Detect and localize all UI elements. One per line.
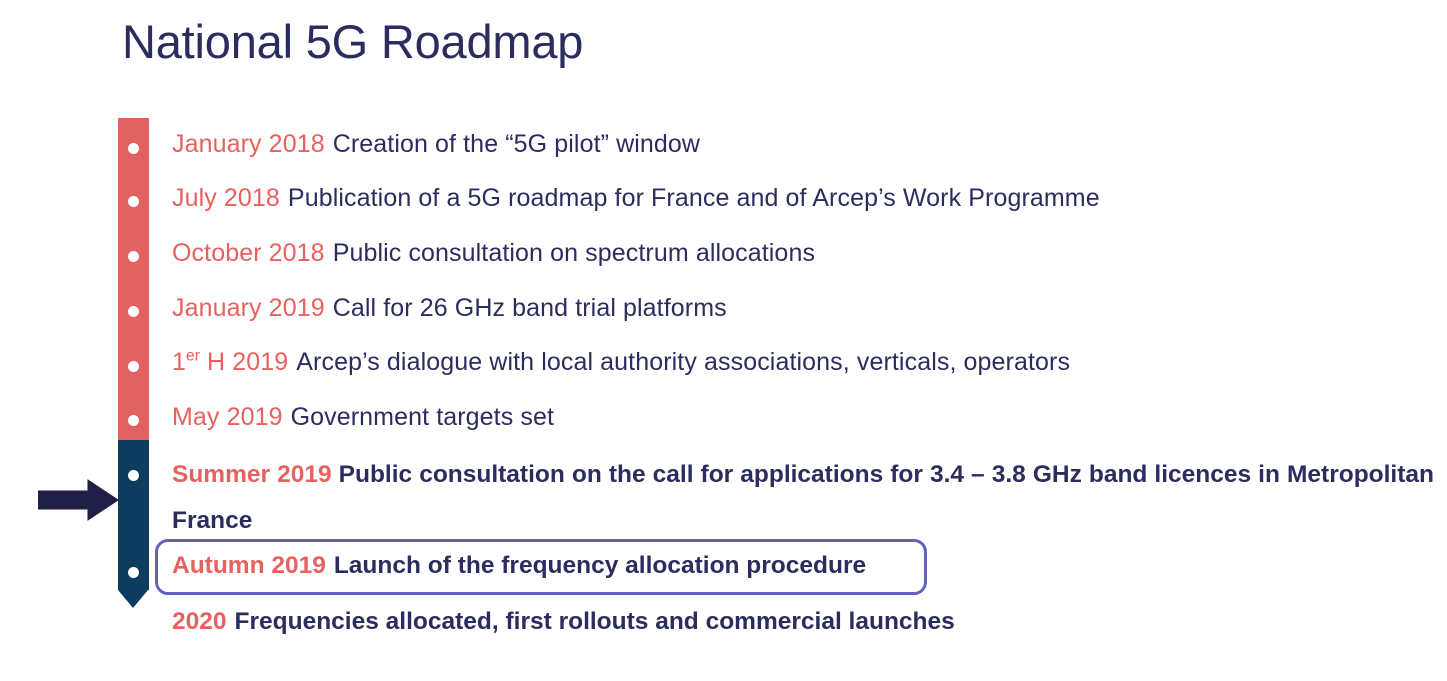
timeline-bullet <box>128 306 139 317</box>
timeline-row-date: January 2018 <box>172 130 325 158</box>
timeline-row: January 2019Call for 26 GHz band trial p… <box>172 294 727 323</box>
timeline-row-description: Frequencies allocated, first rollouts an… <box>235 608 955 635</box>
timeline-row-date: 2020 <box>172 608 227 635</box>
timeline-row: 1er H 2019Arcep’s dialogue with local au… <box>172 348 1070 377</box>
timeline-row-description: Government targets set <box>291 403 554 431</box>
timeline-row: May 2019Government targets set <box>172 403 554 432</box>
timeline-row-description: Launch of the frequency allocation proce… <box>334 552 866 579</box>
timeline-row-date: Summer 2019 <box>172 461 332 488</box>
timeline-segment-current <box>118 440 149 608</box>
timeline-bullet <box>128 196 139 207</box>
timeline-row: 2020Frequencies allocated, first rollout… <box>172 608 955 636</box>
page-title: National 5G Roadmap <box>122 14 583 69</box>
timeline-row: Autumn 2019Launch of the frequency alloc… <box>172 552 866 580</box>
timeline-row: January 2018Creation of the “5G pilot” w… <box>172 130 700 159</box>
timeline-row-description: Publication of a 5G roadmap for France a… <box>288 184 1100 212</box>
timeline-bullet <box>128 251 139 262</box>
timeline-row-date: January 2019 <box>172 294 325 322</box>
timeline-bullet <box>128 361 139 372</box>
timeline-row-date: October 2018 <box>172 239 325 267</box>
timeline-row-date-prefix: 1 <box>172 348 186 376</box>
timeline-row-date: July 2018 <box>172 184 280 212</box>
timeline-row-date: 1er H 2019 <box>172 348 288 376</box>
timeline-bullet <box>128 143 139 154</box>
timeline-row-description: Call for 26 GHz band trial platforms <box>333 294 727 322</box>
timeline-row-description: Arcep’s dialogue with local authority as… <box>296 348 1070 376</box>
timeline-bullet <box>128 567 139 578</box>
timeline-segment-current-chevron <box>118 590 148 608</box>
timeline-row-description: Creation of the “5G pilot” window <box>333 130 700 158</box>
timeline-row-date: May 2019 <box>172 403 283 431</box>
timeline-row-date-suffix: H 2019 <box>200 348 288 376</box>
pointer-arrow-icon <box>38 478 120 522</box>
timeline-segment-past <box>118 118 149 458</box>
timeline-bar <box>118 118 149 608</box>
timeline-bullet <box>128 470 139 481</box>
timeline-row-date: Autumn 2019 <box>172 552 326 579</box>
timeline-row-description: Public consultation on spectrum allocati… <box>333 239 815 267</box>
timeline-row: July 2018Publication of a 5G roadmap for… <box>172 184 1100 213</box>
timeline-segment-past-body <box>118 118 149 440</box>
timeline-row: October 2018Public consultation on spect… <box>172 239 815 268</box>
timeline-row-date-ordinal: er <box>186 348 200 365</box>
timeline-row-description: Public consultation on the call for appl… <box>172 461 1434 534</box>
timeline-bullet <box>128 415 139 426</box>
